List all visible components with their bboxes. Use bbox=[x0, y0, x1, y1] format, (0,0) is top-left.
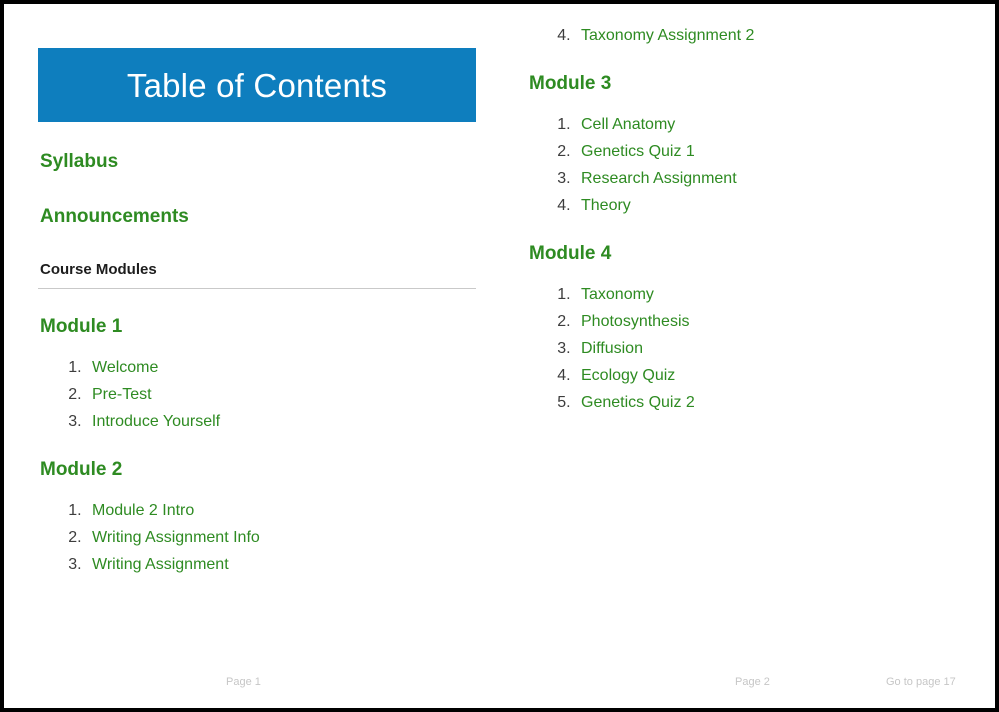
module-2-item-writing-assignment[interactable]: Writing Assignment bbox=[92, 556, 229, 573]
list-item: Photosynthesis bbox=[575, 314, 965, 330]
module-2-item-list-continued: Taxonomy Assignment 2 bbox=[527, 28, 965, 44]
two-column-layout: Table of Contents Syllabus Announcements… bbox=[4, 4, 995, 648]
page-2-column: Taxonomy Assignment 2 Module 3 Cell Anat… bbox=[506, 4, 995, 648]
module-3-item-research-assignment[interactable]: Research Assignment bbox=[581, 170, 737, 187]
list-item: Writing Assignment Info bbox=[86, 530, 476, 546]
section-divider bbox=[38, 288, 476, 289]
announcements-link[interactable]: Announcements bbox=[40, 207, 476, 228]
page-2-indicator: Page 2 bbox=[735, 670, 770, 694]
page-1-indicator: Page 1 bbox=[226, 670, 261, 694]
list-item: Module 2 Intro bbox=[86, 503, 476, 519]
module-3-heading[interactable]: Module 3 bbox=[529, 74, 965, 95]
page-1-column: Table of Contents Syllabus Announcements… bbox=[4, 4, 506, 648]
module-2-item-module-2-intro[interactable]: Module 2 Intro bbox=[92, 502, 194, 519]
module-1-heading[interactable]: Module 1 bbox=[40, 317, 476, 338]
list-item: Diffusion bbox=[575, 341, 965, 357]
module-3-item-genetics-quiz-1[interactable]: Genetics Quiz 1 bbox=[581, 143, 695, 160]
document-page: Table of Contents Syllabus Announcements… bbox=[0, 0, 999, 712]
list-item: Theory bbox=[575, 198, 965, 214]
list-item: Genetics Quiz 2 bbox=[575, 395, 965, 411]
table-of-contents-banner: Table of Contents bbox=[38, 48, 476, 122]
list-item: Research Assignment bbox=[575, 171, 965, 187]
module-2-item-taxonomy-assignment-2[interactable]: Taxonomy Assignment 2 bbox=[581, 27, 754, 44]
module-4-item-photosynthesis[interactable]: Photosynthesis bbox=[581, 313, 690, 330]
list-item: Taxonomy bbox=[575, 287, 965, 303]
module-2-heading[interactable]: Module 2 bbox=[40, 460, 476, 481]
list-item: Pre-Test bbox=[86, 387, 476, 403]
module-3-item-cell-anatomy[interactable]: Cell Anatomy bbox=[581, 116, 675, 133]
module-3-item-theory[interactable]: Theory bbox=[581, 197, 631, 214]
list-item: Writing Assignment bbox=[86, 557, 476, 573]
page-footer: Page 1 Page 2 Go to page 17 bbox=[4, 670, 995, 694]
module-1-item-introduce-yourself[interactable]: Introduce Yourself bbox=[92, 413, 220, 430]
module-2-item-list: Module 2 Intro Writing Assignment Info W… bbox=[38, 503, 476, 573]
list-item: Introduce Yourself bbox=[86, 414, 476, 430]
list-item: Ecology Quiz bbox=[575, 368, 965, 384]
module-2-item-writing-assignment-info[interactable]: Writing Assignment Info bbox=[92, 529, 260, 546]
list-item: Welcome bbox=[86, 360, 476, 376]
list-item: Cell Anatomy bbox=[575, 117, 965, 133]
module-4-item-genetics-quiz-2[interactable]: Genetics Quiz 2 bbox=[581, 394, 695, 411]
module-4-item-taxonomy[interactable]: Taxonomy bbox=[581, 286, 654, 303]
module-1-item-welcome[interactable]: Welcome bbox=[92, 359, 158, 376]
course-modules-heading: Course Modules bbox=[40, 262, 476, 279]
page-title: Table of Contents bbox=[127, 69, 387, 102]
module-4-item-list: Taxonomy Photosynthesis Diffusion Ecolog… bbox=[527, 287, 965, 411]
list-item: Genetics Quiz 1 bbox=[575, 144, 965, 160]
module-4-item-diffusion[interactable]: Diffusion bbox=[581, 340, 643, 357]
module-4-item-ecology-quiz[interactable]: Ecology Quiz bbox=[581, 367, 675, 384]
module-1-item-pre-test[interactable]: Pre-Test bbox=[92, 386, 152, 403]
module-4-heading[interactable]: Module 4 bbox=[529, 244, 965, 265]
list-item: Taxonomy Assignment 2 bbox=[575, 28, 965, 44]
go-to-page-control[interactable]: Go to page 17 bbox=[886, 670, 956, 694]
module-1-item-list: Welcome Pre-Test Introduce Yourself bbox=[38, 360, 476, 430]
syllabus-link[interactable]: Syllabus bbox=[40, 152, 476, 173]
module-3-item-list: Cell Anatomy Genetics Quiz 1 Research As… bbox=[527, 117, 965, 214]
